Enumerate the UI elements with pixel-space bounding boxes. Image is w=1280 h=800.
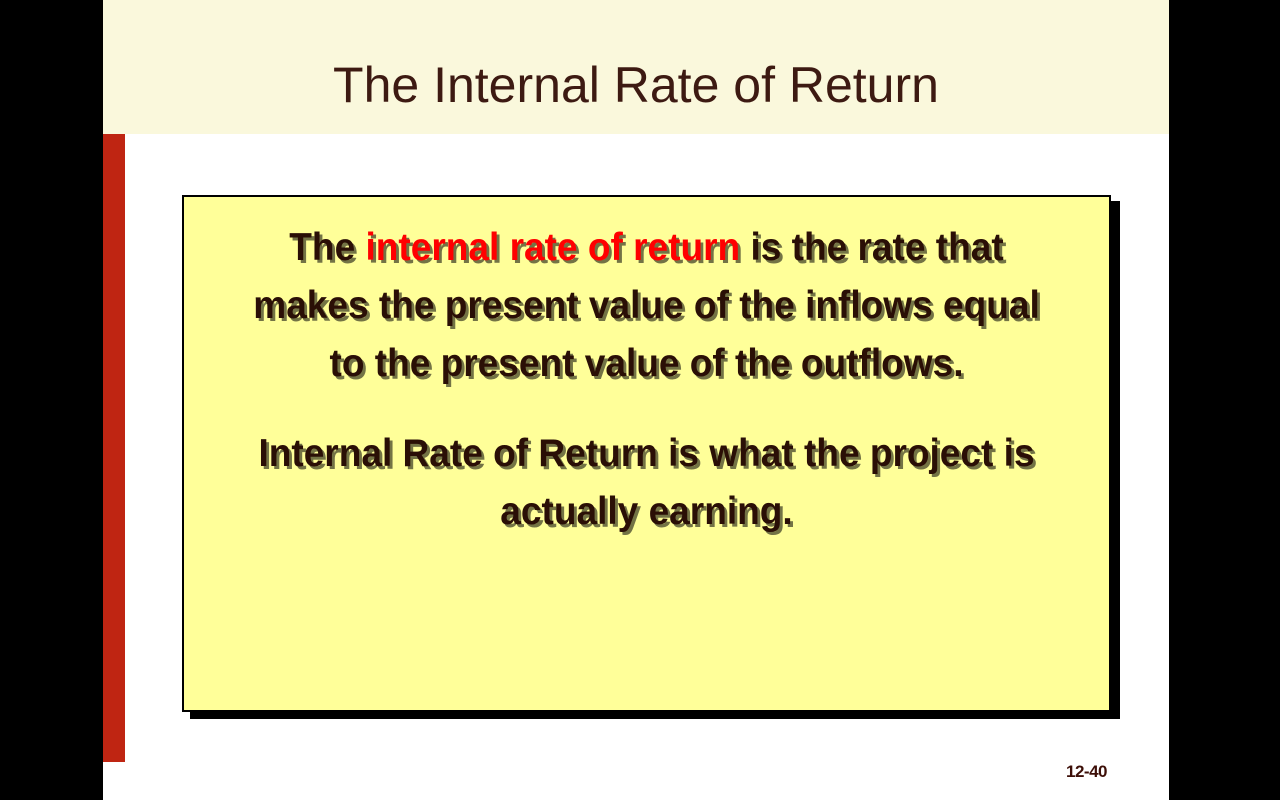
slide-number: 12-40 xyxy=(1066,762,1107,782)
slide-canvas: The Internal Rate of Return The internal… xyxy=(103,0,1169,800)
definition-lead: The xyxy=(289,226,365,269)
explanation-paragraph: Internal Rate of Return is what the proj… xyxy=(234,425,1060,541)
left-accent-bar xyxy=(103,134,125,762)
presentation-stage: The Internal Rate of Return The internal… xyxy=(0,0,1280,800)
slide-title-band: The Internal Rate of Return xyxy=(103,0,1169,134)
definition-paragraph: The internal rate of return is the rate … xyxy=(234,219,1060,393)
content-box: The internal rate of return is the rate … xyxy=(182,195,1111,712)
keyword-internal-rate-of-return: internal rate of return xyxy=(365,226,740,269)
slide-title: The Internal Rate of Return xyxy=(103,60,1169,110)
